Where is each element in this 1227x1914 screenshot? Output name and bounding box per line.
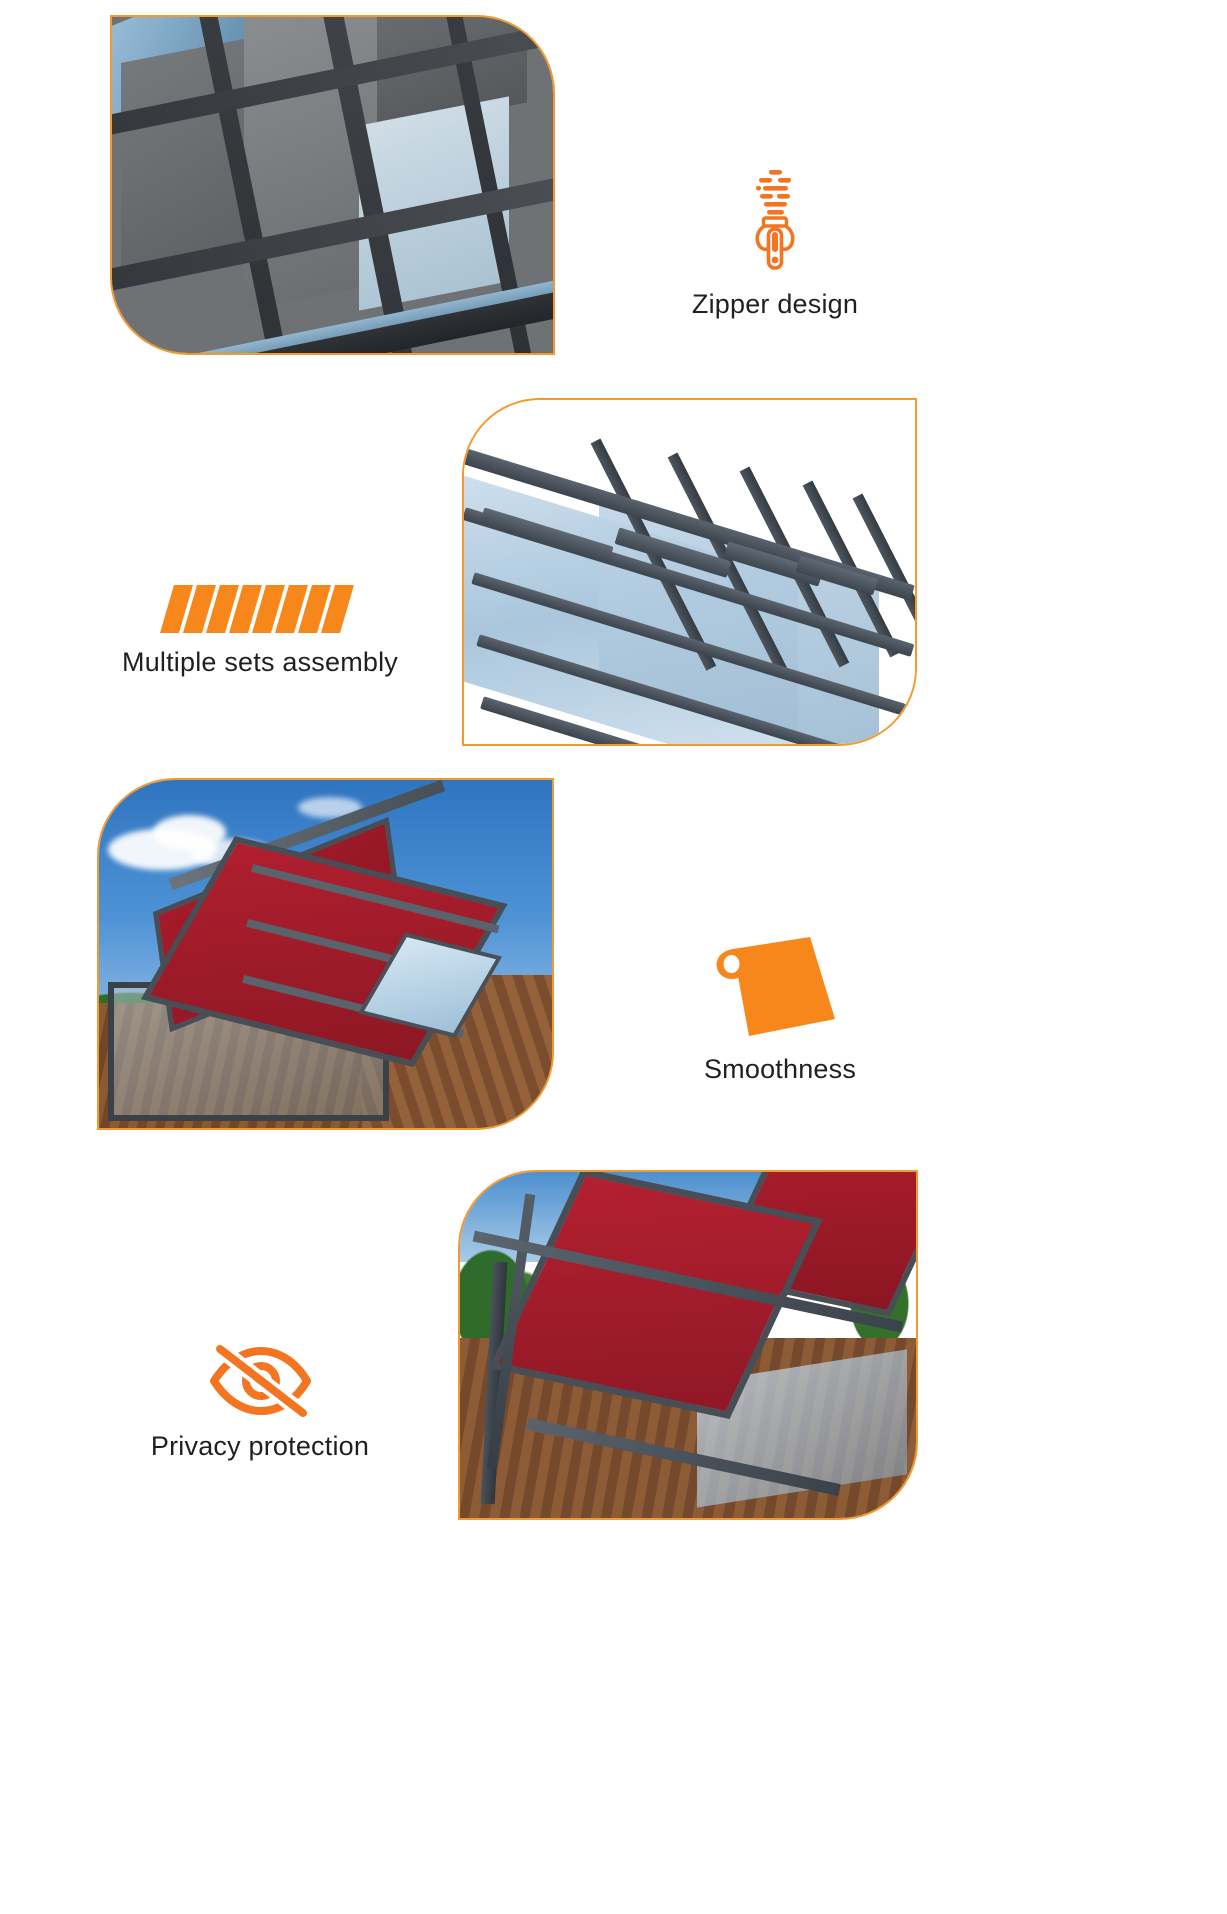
feature-photo-card-conservatory xyxy=(97,778,554,1130)
fabric-roll-icon xyxy=(713,935,848,1040)
diagonal-stripes-icon xyxy=(160,585,360,633)
feature-block-privacy-protection: Privacy protection xyxy=(95,1345,425,1462)
feature-block-zipper-design: Zipper design xyxy=(640,170,910,320)
photo-red-awning-closeup xyxy=(460,1172,916,1518)
feature-label-smoothness: Smoothness xyxy=(645,1054,915,1085)
feature-block-smoothness: Smoothness xyxy=(645,935,915,1085)
feature-showcase-page: Zipper design xyxy=(0,0,1227,1914)
eye-off-icon-wrap xyxy=(95,1345,425,1417)
feature-block-multiple-sets-assembly: Multiple sets assembly xyxy=(95,585,425,678)
stripes-icon-wrap xyxy=(95,585,425,633)
eye-off-icon xyxy=(208,1345,313,1417)
feature-label-zipper: Zipper design xyxy=(640,289,910,320)
zipper-icon-wrap xyxy=(640,170,910,275)
feature-photo-card-glass-roof-render xyxy=(462,398,917,746)
photo-conservatory-red-awnings xyxy=(99,780,552,1128)
feature-label-privacy: Privacy protection xyxy=(95,1431,425,1462)
feature-photo-card-awning-closeup xyxy=(458,1170,918,1520)
feature-photo-card-awning-detail xyxy=(110,15,555,355)
photo-awning-underside xyxy=(112,17,553,353)
zipper-icon xyxy=(750,170,800,275)
feature-label-assembly: Multiple sets assembly xyxy=(95,647,425,678)
photo-glass-roof-render xyxy=(464,400,915,744)
fabric-roll-icon-wrap xyxy=(645,935,915,1040)
